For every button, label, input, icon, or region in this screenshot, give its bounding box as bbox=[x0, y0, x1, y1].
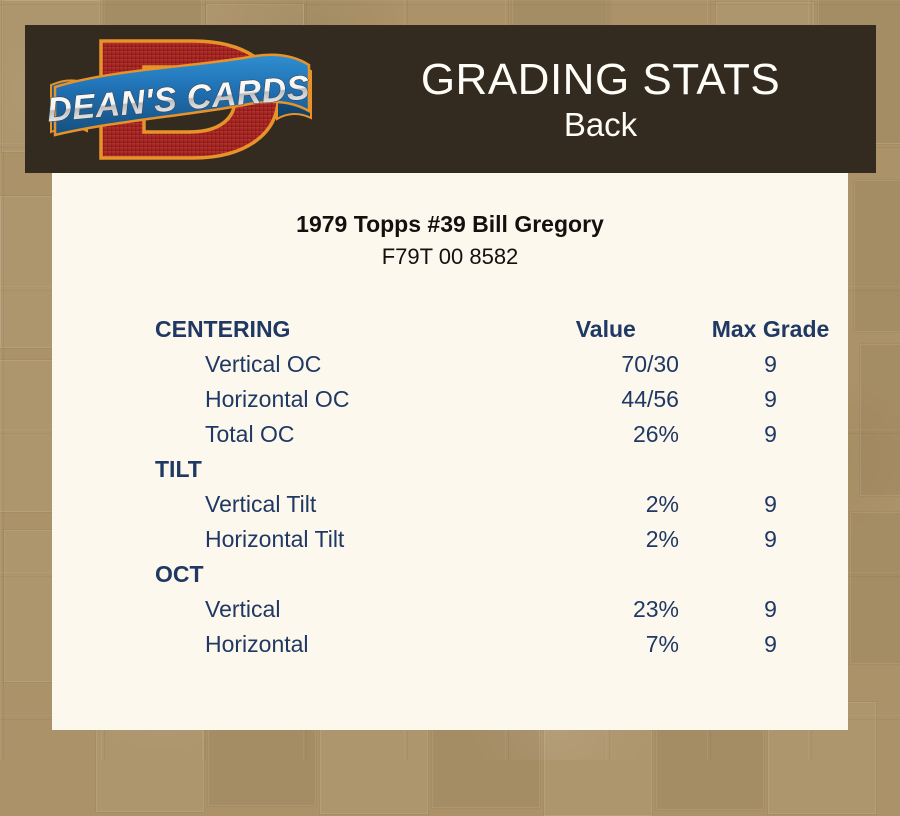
header-bar: DEAN'S CARDS GRADING STATS Back bbox=[25, 25, 876, 173]
stat-max-grade: 9 bbox=[689, 382, 852, 417]
section-header-row: TILT bbox=[152, 452, 852, 487]
stat-max-grade bbox=[689, 557, 852, 592]
deans-cards-logo[interactable]: DEAN'S CARDS bbox=[43, 27, 318, 172]
section-label: TILT bbox=[152, 452, 523, 487]
stat-value: 70/30 bbox=[523, 347, 689, 382]
stat-label: Vertical bbox=[152, 592, 523, 627]
table-header-row: CENTERING Value Max Grade bbox=[152, 312, 852, 347]
stat-max-grade: 9 bbox=[689, 627, 852, 662]
stat-max-grade: 9 bbox=[689, 417, 852, 452]
stat-max-grade: 9 bbox=[689, 522, 852, 557]
stat-label: Horizontal Tilt bbox=[152, 522, 523, 557]
table-row: Vertical Tilt2%9 bbox=[152, 487, 852, 522]
content-panel: 1979 Topps #39 Bill Gregory F79T 00 8582… bbox=[52, 173, 848, 730]
section-label: OCT bbox=[152, 557, 523, 592]
stat-max-grade: 9 bbox=[689, 347, 852, 382]
grading-stats-page: DEAN'S CARDS GRADING STATS Back 1979 Top… bbox=[0, 0, 900, 760]
stat-value: 26% bbox=[523, 417, 689, 452]
stat-label: Total OC bbox=[152, 417, 523, 452]
stat-value: 2% bbox=[523, 487, 689, 522]
stat-label: Horizontal bbox=[152, 627, 523, 662]
column-header-centering: CENTERING bbox=[152, 312, 523, 347]
table-row: Total OC26%9 bbox=[152, 417, 852, 452]
card-serial-number: F79T 00 8582 bbox=[52, 243, 848, 271]
stat-max-grade bbox=[689, 452, 852, 487]
stat-label: Vertical OC bbox=[152, 347, 523, 382]
table-row: Horizontal OC44/569 bbox=[152, 382, 852, 417]
stat-max-grade: 9 bbox=[689, 487, 852, 522]
section-header-row: OCT bbox=[152, 557, 852, 592]
grading-stats-table: CENTERING Value Max Grade Vertical OC70/… bbox=[152, 312, 852, 662]
page-subtitle: Back bbox=[564, 106, 637, 144]
column-header-value: Value bbox=[523, 312, 689, 347]
page-title: GRADING STATS bbox=[421, 54, 780, 106]
stat-value: 2% bbox=[523, 522, 689, 557]
table-row: Horizontal Tilt2%9 bbox=[152, 522, 852, 557]
stat-value: 23% bbox=[523, 592, 689, 627]
stat-max-grade: 9 bbox=[689, 592, 852, 627]
stat-label: Vertical Tilt bbox=[152, 487, 523, 522]
stat-value bbox=[523, 452, 689, 487]
card-title: 1979 Topps #39 Bill Gregory bbox=[52, 210, 848, 238]
table-row: Horizontal7%9 bbox=[152, 627, 852, 662]
stat-value: 7% bbox=[523, 627, 689, 662]
deans-cards-logo-icon: DEAN'S CARDS bbox=[43, 27, 318, 172]
stat-value bbox=[523, 557, 689, 592]
column-header-max-grade: Max Grade bbox=[689, 312, 852, 347]
table-row: Vertical23%9 bbox=[152, 592, 852, 627]
stat-label: Horizontal OC bbox=[152, 382, 523, 417]
table-row: Vertical OC70/309 bbox=[152, 347, 852, 382]
header-title-group: GRADING STATS Back bbox=[325, 25, 876, 173]
stat-value: 44/56 bbox=[523, 382, 689, 417]
